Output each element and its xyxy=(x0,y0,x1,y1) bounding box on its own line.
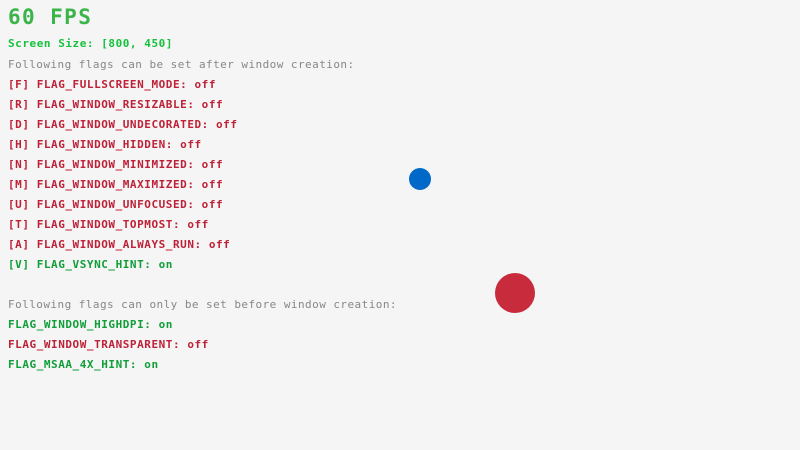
section-header-after-creation: Following flags can be set after window … xyxy=(8,59,355,70)
flag-row-flag-window-transparent[interactable]: FLAG_WINDOW_TRANSPARENT: off xyxy=(8,339,209,350)
section-header-before-creation: Following flags can only be set before w… xyxy=(8,299,397,310)
flag-row-flag-window-resizable[interactable]: [R] FLAG_WINDOW_RESIZABLE: off xyxy=(8,99,223,110)
red-ball-circle xyxy=(495,273,535,313)
flag-row-flag-window-always-run[interactable]: [A] FLAG_WINDOW_ALWAYS_RUN: off xyxy=(8,239,230,250)
flag-row-flag-window-minimized[interactable]: [N] FLAG_WINDOW_MINIMIZED: off xyxy=(8,159,223,170)
flag-row-flag-window-hidden[interactable]: [H] FLAG_WINDOW_HIDDEN: off xyxy=(8,139,202,150)
flag-row-flag-vsync-hint[interactable]: [V] FLAG_VSYNC_HINT: on xyxy=(8,259,173,270)
flag-row-flag-window-undecorated[interactable]: [D] FLAG_WINDOW_UNDECORATED: off xyxy=(8,119,238,130)
flag-row-flag-window-topmost[interactable]: [T] FLAG_WINDOW_TOPMOST: off xyxy=(8,219,209,230)
flag-row-flag-window-maximized[interactable]: [M] FLAG_WINDOW_MAXIMIZED: off xyxy=(8,179,223,190)
fps-counter: 60 FPS xyxy=(8,7,92,28)
flag-row-flag-window-unfocused[interactable]: [U] FLAG_WINDOW_UNFOCUSED: off xyxy=(8,199,223,210)
screen-size-label: Screen Size: [800, 450] xyxy=(8,38,173,49)
flag-row-flag-fullscreen-mode[interactable]: [F] FLAG_FULLSCREEN_MODE: off xyxy=(8,79,216,90)
raylib-window-canvas[interactable]: 60 FPS Screen Size: [800, 450] Following… xyxy=(0,0,800,450)
blue-ball-circle xyxy=(409,168,431,190)
flag-row-flag-msaa-4x-hint[interactable]: FLAG_MSAA_4X_HINT: on xyxy=(8,359,159,370)
flag-row-flag-window-highdpi[interactable]: FLAG_WINDOW_HIGHDPI: on xyxy=(8,319,173,330)
